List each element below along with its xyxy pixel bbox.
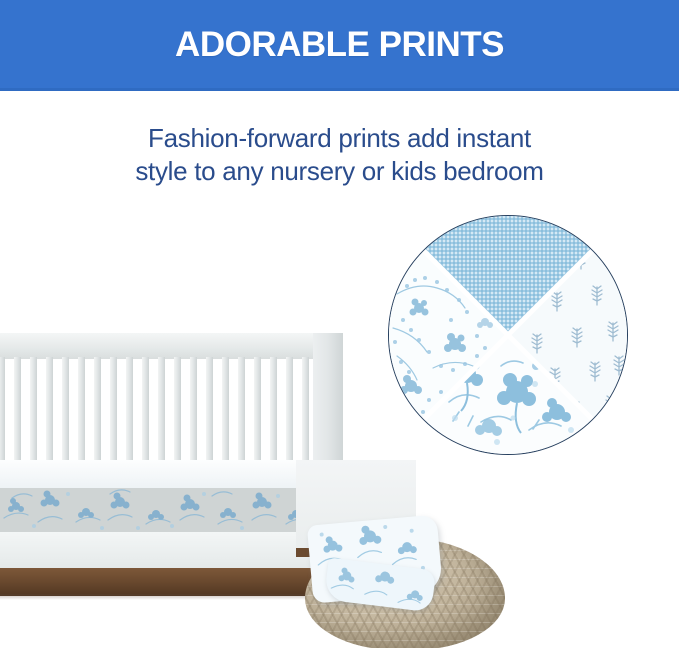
- page-title: ADORABLE PRINTS: [175, 27, 504, 62]
- subtitle-text: Fashion-forward prints add instant style…: [0, 122, 679, 188]
- fabric-print-swatch-circle: [388, 215, 628, 455]
- product-feature-image: ADORABLE PRINTS Fashion-forward prints a…: [0, 0, 679, 648]
- crib-wood-base: [0, 568, 315, 596]
- subtitle-line-2: style to any nursery or kids bedroom: [0, 155, 679, 188]
- header-banner: ADORABLE PRINTS: [0, 0, 679, 91]
- crib-top-rail: [0, 333, 340, 359]
- crib-sheet: [0, 460, 320, 535]
- knitted-pouf: [300, 520, 510, 648]
- subtitle-line-1: Fashion-forward prints add instant: [0, 122, 679, 155]
- crib-sheet-top-edge: [0, 460, 320, 488]
- crib-floor-shadow: [0, 594, 315, 600]
